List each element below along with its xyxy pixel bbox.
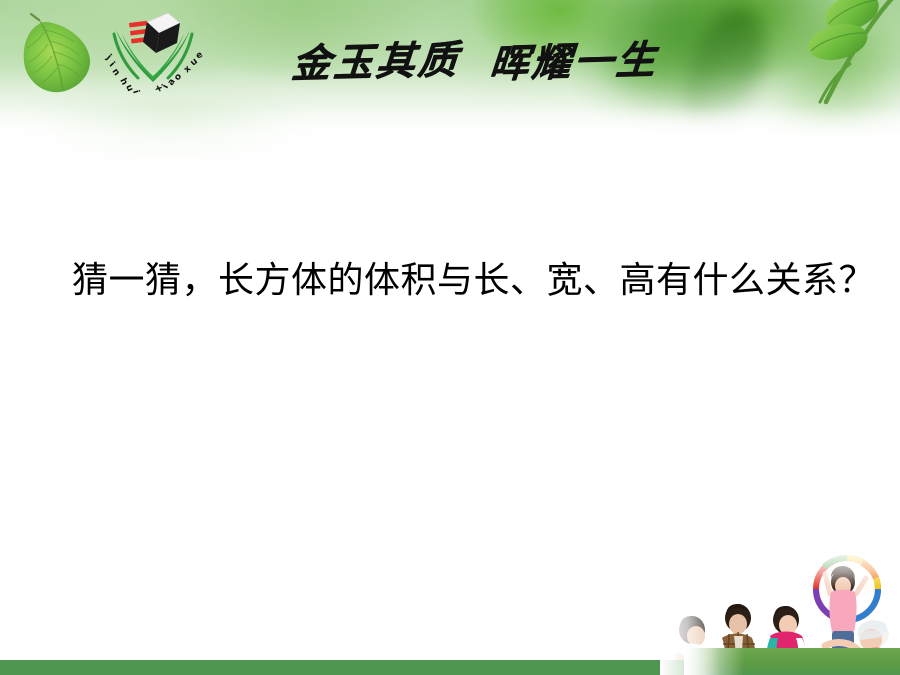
svg-text:n: n: [110, 67, 122, 78]
branch-leaves-icon: [790, 0, 900, 119]
banner-title-part-1: 金玉其质: [290, 29, 463, 89]
school-logo: j i n h u i x i a o x u e: [92, 4, 214, 96]
banner-title-spacer: [460, 59, 490, 60]
svg-text:j: j: [103, 52, 113, 62]
banner-white-fade: [0, 106, 900, 168]
leaf-icon: [14, 8, 100, 100]
slide-canvas: j i n h u i x i a o x u e 金玉其质 晖耀一生 猜一猜，…: [0, 0, 900, 675]
banner-title: 金玉其质 晖耀一生: [292, 28, 672, 90]
question-text: 猜一猜，长方体的体积与长、宽、高有什么关系？: [72, 258, 852, 304]
photo-top-fade: [660, 548, 900, 588]
banner-title-part-2: 晖耀一生: [488, 29, 661, 89]
family-on-grass-photo: [660, 548, 900, 675]
